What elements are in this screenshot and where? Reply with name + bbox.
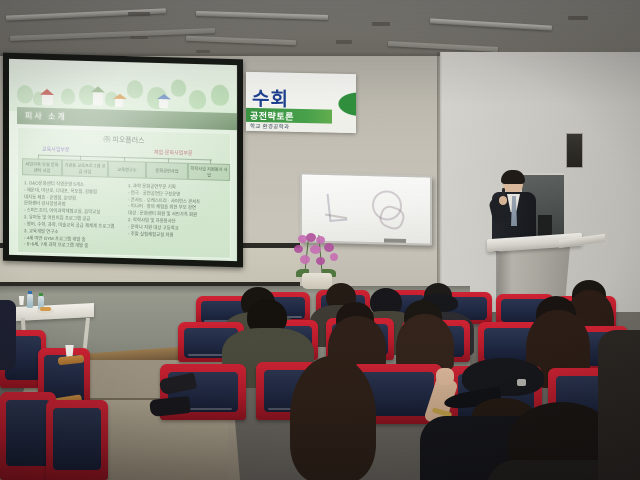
projection-screen: 피사 소개 ㈜ 피오플러스 교육사업부문 체험·문화사업부문 서민가족 부설 문… — [3, 53, 243, 268]
orchid-bloom — [310, 245, 321, 254]
tree-graphic — [189, 90, 206, 109]
audience-shoulders — [0, 300, 16, 370]
orchid-bloom — [330, 253, 338, 261]
ceiling-light-fixture — [388, 41, 498, 52]
snack-item — [40, 307, 51, 311]
ceiling-vent — [336, 40, 352, 44]
tree-graphic — [171, 79, 186, 96]
org-box: 문화공연사업 — [146, 162, 188, 180]
house-graphic — [159, 99, 168, 108]
audience-shoulders — [598, 330, 640, 480]
audience-hair — [290, 356, 376, 480]
ceiling-vent — [372, 22, 390, 26]
presenter-hair — [501, 170, 525, 184]
presenter-hand — [499, 196, 507, 205]
org-box: 기관용 교육프로그램 공급 사업 — [62, 159, 108, 177]
orchid-bloom — [306, 233, 316, 242]
slide-text-column-left: 1. O&O문화센터 직영운영 5개소 - 해운대, 마산로, 다대포, 목포점… — [24, 180, 120, 251]
lecture-hall-photo: 피사 소개 ㈜ 피오플러스 교육사업부문 체험·문화사업부문 서민가족 부설 문… — [0, 0, 640, 480]
ceiling-vent — [130, 36, 148, 39]
orchid-bloom — [324, 243, 334, 252]
ceiling-vent — [196, 50, 210, 53]
wall-speaker-icon — [566, 133, 583, 168]
org-box: 학학사업 지원봉사 사업 — [188, 163, 230, 181]
flower-pot — [302, 273, 332, 289]
banner-title-green: 공전략토론 — [246, 108, 294, 122]
tree-graphic — [61, 88, 75, 104]
ceiling-vent — [128, 12, 150, 16]
slide-group-label-right: 체험·문화사업부문 — [154, 149, 192, 157]
whiteboard-marking — [323, 214, 347, 233]
orchid-bloom — [316, 257, 325, 265]
slide-body: ㈜ 피오플러스 교육사업부문 체험·문화사업부문 서민가족 부설 문화센터 사업… — [17, 127, 231, 259]
org-box: 서민가족 부설 문화센터 사업 — [22, 158, 62, 176]
audience-hand — [436, 368, 454, 385]
slide-group-label-left: 교육사업부문 — [42, 146, 70, 154]
house-graphic — [115, 99, 123, 107]
org-box: 교육연구소 — [108, 161, 146, 179]
tree-graphic — [17, 85, 33, 103]
water-bottle — [27, 294, 33, 308]
ceiling-light-fixture — [196, 11, 328, 20]
slide-line: - 주말 실험체험교실 지원 — [128, 231, 224, 241]
wall-banner: 수회 공전략토론 학교 환경공학과 — [246, 72, 356, 133]
ceiling-vent — [568, 16, 588, 20]
tree-graphic — [127, 80, 143, 98]
ceiling-light-fixture — [430, 18, 552, 30]
slide-line: - 5~6세, 7세 과학 프로그램 개발 중 — [24, 242, 120, 252]
whiteboard-marker-tray — [384, 238, 406, 243]
orchid-bloom — [300, 255, 310, 264]
house-graphic — [42, 94, 53, 105]
ceiling-light-fixture — [186, 36, 296, 46]
orchid-bloom — [294, 245, 303, 253]
wall-corner — [437, 52, 442, 312]
orchid-bloom — [316, 236, 325, 244]
projected-slide: 피사 소개 ㈜ 피오플러스 교육사업부문 체험·문화사업부문 서민가족 부설 문… — [9, 59, 237, 261]
banner-subtitle: 학교 환경공학과 — [250, 122, 289, 131]
house-graphic — [93, 91, 103, 105]
ceiling-light-fixture — [10, 28, 215, 41]
tree-graphic — [211, 84, 229, 106]
slide-text-column-right: 1. 과학 문화공연부문 기획 - 연극 · 공연공연단 구성운영 - 콘서트 … — [128, 183, 224, 240]
